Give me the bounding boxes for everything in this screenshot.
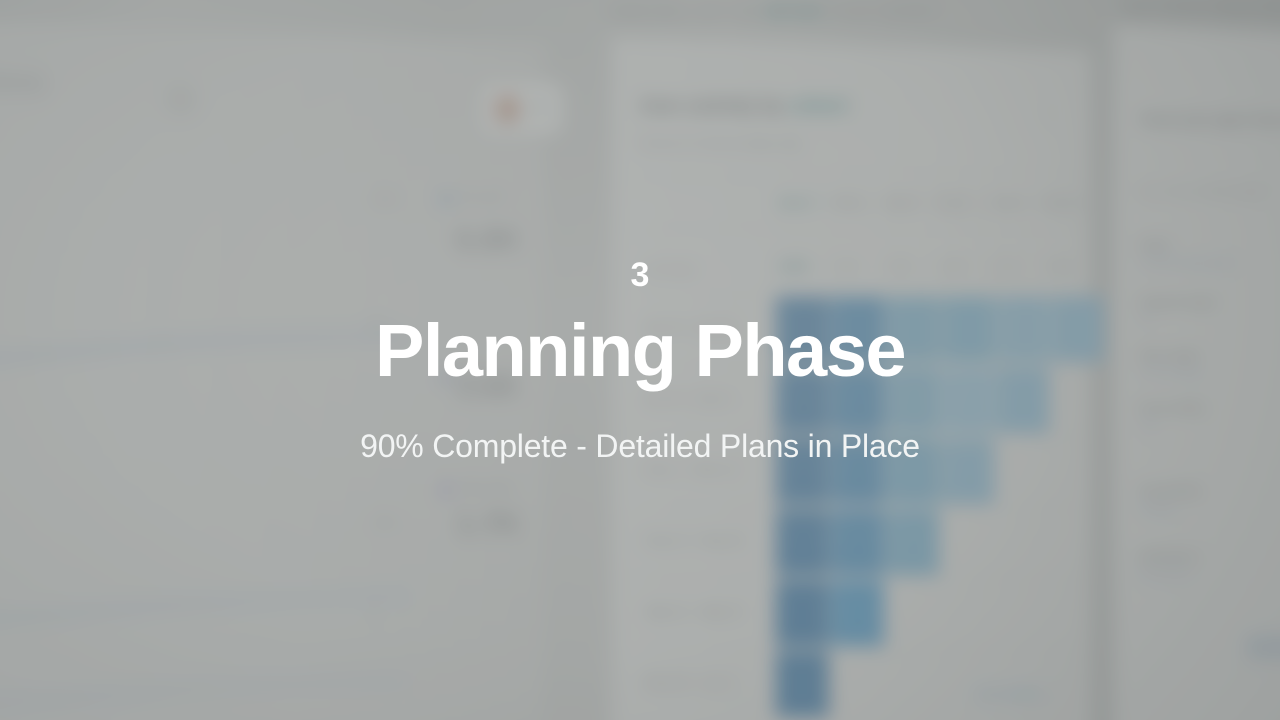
- overlay-content: 3 Planning Phase 90% Complete - Detailed…: [0, 0, 1280, 720]
- screenshot-stage: 7.5K All users 6.8K 5K New users 3.6K 2.…: [0, 0, 1280, 720]
- page-title: Planning Phase: [375, 314, 905, 388]
- page-subtitle: 90% Complete - Detailed Plans in Place: [360, 430, 920, 462]
- step-number: 3: [631, 258, 650, 292]
